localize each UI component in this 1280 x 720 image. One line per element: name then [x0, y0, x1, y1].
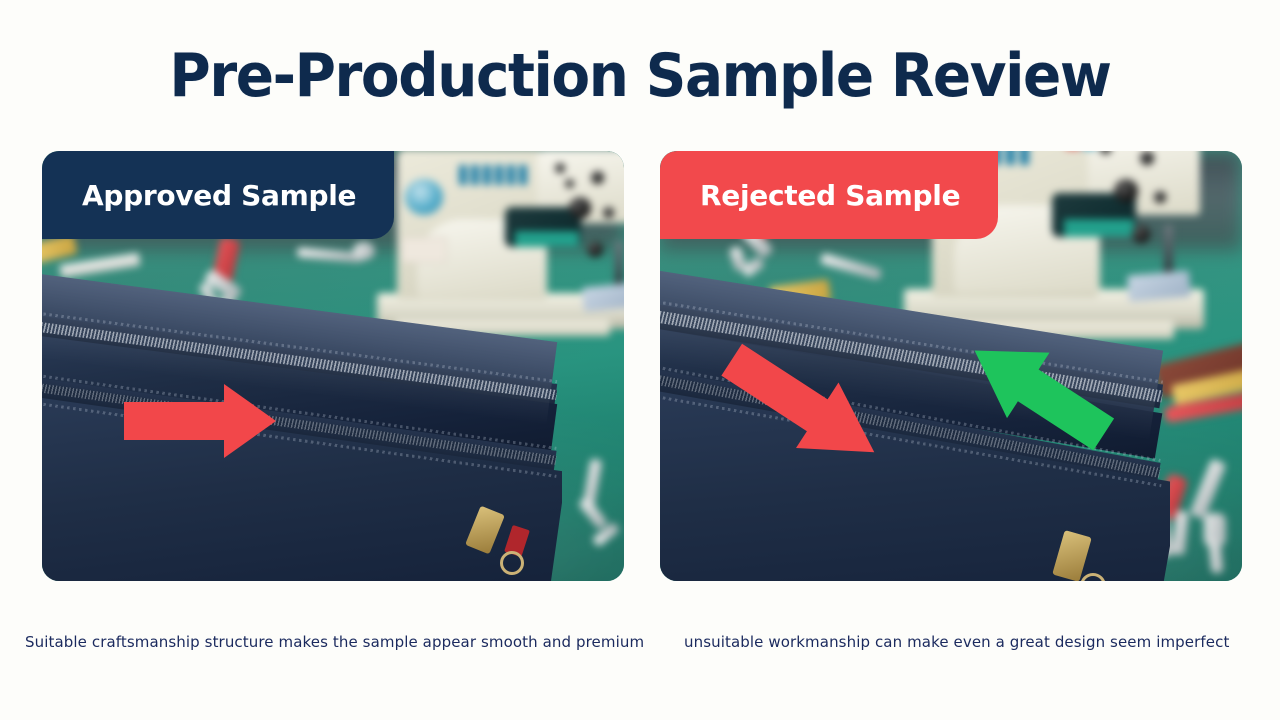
rejected-sample-badge: Rejected Sample	[660, 151, 998, 239]
approved-sample-card[interactable]: Approved Sample	[42, 151, 624, 581]
red-arrow-down-right-annotation	[708, 341, 898, 471]
red-arrow-right-annotation	[120, 376, 280, 466]
page-title: Pre-Production Sample Review	[38, 46, 1241, 106]
green-arrow-down-left-annotation	[950, 326, 1130, 461]
rejected-sample-caption: unsuitable workmanship can make even a g…	[684, 633, 1229, 651]
rejected-sample-card[interactable]: Rejected Sample	[660, 151, 1242, 581]
approved-sample-badge: Approved Sample	[42, 151, 394, 239]
approved-sample-caption: Suitable craftsmanship structure makes t…	[25, 633, 644, 651]
approved-badge-label: Approved Sample	[82, 179, 356, 212]
rejected-badge-label: Rejected Sample	[700, 179, 960, 212]
hook-tool	[562, 451, 624, 561]
